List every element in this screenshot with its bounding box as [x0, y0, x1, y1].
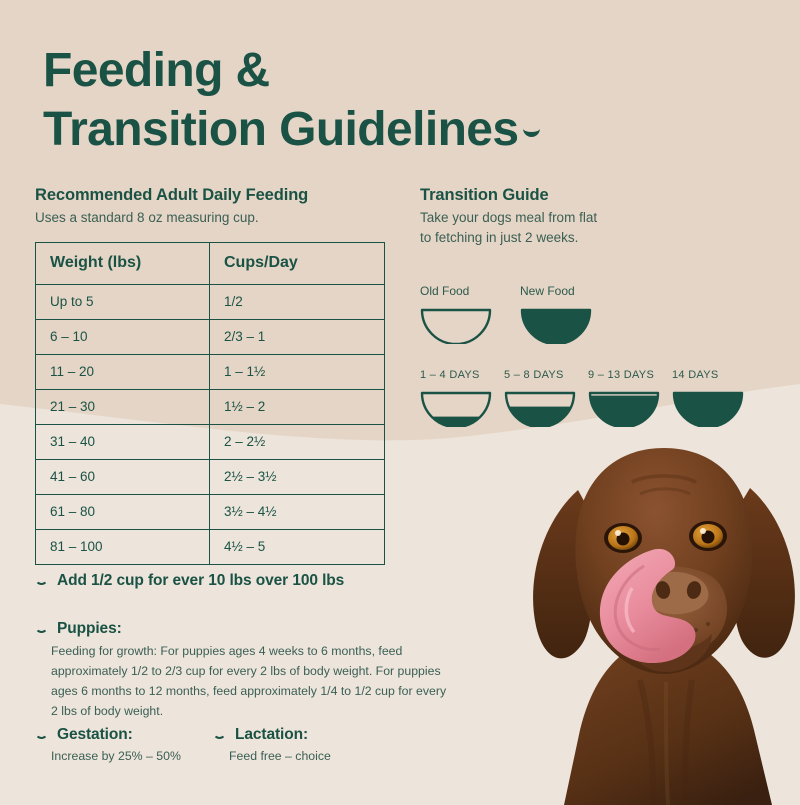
- smile-bullet-icon: [35, 626, 48, 633]
- feeding-section: Recommended Adult Daily Feeding Uses a s…: [35, 186, 385, 565]
- table-row: Up to 5 1/2: [36, 284, 385, 319]
- note-over-100-text: Add 1/2 cup for ever 10 lbs over 100 lbs: [57, 572, 344, 589]
- cell-cups: 3½ – 4½: [210, 494, 385, 529]
- cell-cups: 1/2: [210, 284, 385, 319]
- transition-heading: Transition Guide: [420, 186, 760, 205]
- transition-subheading-line-1: Take your dogs meal from flat: [420, 208, 760, 228]
- table-row: 61 – 80 3½ – 4½: [36, 494, 385, 529]
- legend-new-food: New Food: [520, 284, 592, 344]
- cell-weight: 21 – 30: [36, 389, 210, 424]
- title-smile-mark-icon: [523, 128, 540, 137]
- note-puppies-body: Feeding for growth: For puppies ages 4 w…: [51, 641, 455, 721]
- table-row: 6 – 10 2/3 – 1: [36, 319, 385, 354]
- table-header-row: Weight (lbs) Cups/Day: [36, 242, 385, 284]
- cell-weight: 31 – 40: [36, 424, 210, 459]
- stage-label: 1 – 4 DAYS: [420, 369, 492, 381]
- feeding-heading: Recommended Adult Daily Feeding: [35, 186, 385, 205]
- smile-bullet-icon: [35, 732, 48, 739]
- smile-bullet-icon: [35, 578, 48, 585]
- table-row: 11 – 20 1 – 1½: [36, 354, 385, 389]
- cell-cups: 4½ – 5: [210, 529, 385, 564]
- table-row: 81 – 100 4½ – 5: [36, 529, 385, 564]
- transition-subheading-line-2: to fetching in just 2 weeks.: [420, 228, 760, 248]
- table-row: 21 – 30 1½ – 2: [36, 389, 385, 424]
- infographic-canvas: Feeding &Transition Guidelines Recommend…: [0, 0, 800, 800]
- note-gestation: Gestation: Increase by 25% – 50%: [35, 726, 225, 766]
- note-lactation: Lactation: Feed free – choice: [213, 726, 433, 766]
- transition-section: Transition Guide Take your dogs meal fro…: [420, 186, 760, 247]
- column-header-cups: Cups/Day: [210, 242, 385, 284]
- page-title: Feeding &Transition Guidelines: [43, 42, 540, 159]
- title-line-1: Feeding &: [43, 44, 270, 97]
- table-row: 41 – 60 2½ – 3½: [36, 459, 385, 494]
- note-over-100: Add 1/2 cup for ever 10 lbs over 100 lbs: [35, 572, 455, 590]
- stage-label: 14 DAYS: [672, 369, 744, 381]
- cell-weight: Up to 5: [36, 284, 210, 319]
- cell-weight: 11 – 20: [36, 354, 210, 389]
- bowl-icon-stage-1: [420, 390, 492, 427]
- stage-5-8-days: 5 – 8 DAYS: [504, 369, 576, 427]
- bowl-icon-stage-4: [672, 390, 744, 427]
- note-gestation-title: Gestation:: [57, 726, 133, 743]
- note-puppies: Puppies: Feeding for growth: For puppies…: [35, 620, 455, 721]
- bowl-icon-stage-3: [588, 390, 660, 427]
- stage-9-13-days: 9 – 13 DAYS: [588, 369, 660, 427]
- cell-cups: 2½ – 3½: [210, 459, 385, 494]
- smile-bullet-icon: [213, 732, 226, 739]
- cell-weight: 41 – 60: [36, 459, 210, 494]
- notes-section: Add 1/2 cup for ever 10 lbs over 100 lbs…: [35, 572, 455, 721]
- cell-weight: 61 – 80: [36, 494, 210, 529]
- stage-label: 9 – 13 DAYS: [588, 369, 660, 381]
- note-puppies-title: Puppies:: [57, 620, 122, 637]
- cell-weight: 81 – 100: [36, 529, 210, 564]
- legend-old-food: Old Food: [420, 284, 492, 344]
- legend-new-food-label: New Food: [520, 284, 592, 298]
- bowl-icon-old-food: [420, 307, 492, 344]
- bowl-icon-new-food: [520, 307, 592, 344]
- column-header-weight: Weight (lbs): [36, 242, 210, 284]
- table-row: 31 – 40 2 – 2½: [36, 424, 385, 459]
- note-gestation-body: Increase by 25% – 50%: [35, 746, 225, 766]
- feeding-subheading: Uses a standard 8 oz measuring cup.: [35, 208, 385, 228]
- cell-cups: 2/3 – 1: [210, 319, 385, 354]
- feeding-table: Weight (lbs) Cups/Day Up to 5 1/2 6 – 10…: [35, 242, 385, 565]
- stage-1-4-days: 1 – 4 DAYS: [420, 369, 492, 427]
- stage-label: 5 – 8 DAYS: [504, 369, 576, 381]
- note-lactation-body: Feed free – choice: [213, 746, 433, 766]
- bowl-icon-stage-2: [504, 390, 576, 427]
- note-lactation-title: Lactation:: [235, 726, 308, 743]
- cell-cups: 1½ – 2: [210, 389, 385, 424]
- title-line-2: Transition Guidelines: [43, 103, 519, 156]
- legend-old-food-label: Old Food: [420, 284, 492, 298]
- cell-cups: 1 – 1½: [210, 354, 385, 389]
- cell-weight: 6 – 10: [36, 319, 210, 354]
- dog-photo: [520, 430, 800, 805]
- cell-cups: 2 – 2½: [210, 424, 385, 459]
- stage-14-days: 14 DAYS: [672, 369, 744, 427]
